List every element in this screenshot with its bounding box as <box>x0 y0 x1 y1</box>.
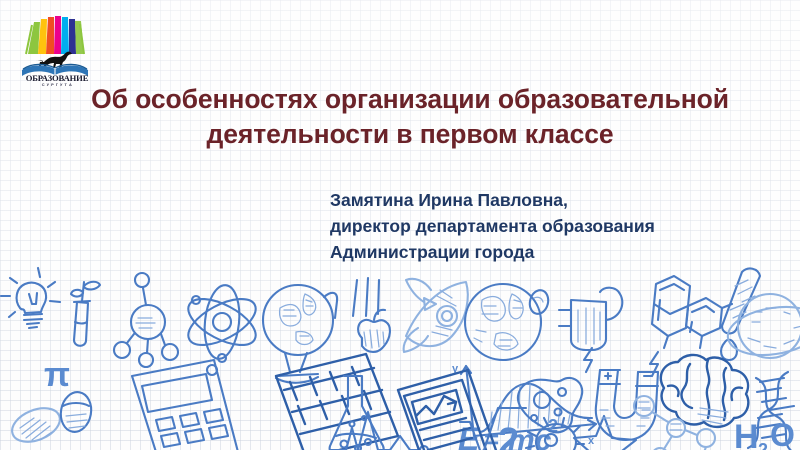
subtitle-line-1: Замятина Ирина Павловна, <box>330 188 770 214</box>
brain-icon <box>661 355 749 427</box>
h2o-subscript: 2 <box>758 440 768 450</box>
plug-icon <box>559 288 622 350</box>
calculator-icon <box>132 360 238 450</box>
saturn-icon <box>728 294 800 358</box>
h2o-o: O <box>770 417 795 450</box>
pi-symbol: π <box>44 356 70 394</box>
obrazovanie-surguta-logo: ОБРАЗОВАНИЕ С У Р Г У Т А <box>14 8 100 86</box>
test-tube-sprout-icon <box>71 282 100 346</box>
falling-apple-icon <box>353 278 390 352</box>
subtitle-line-3: Администрации города <box>330 240 770 266</box>
atom-icon <box>181 283 262 362</box>
slide-title-line-1: Об особенностях организации образователь… <box>50 82 770 117</box>
petri-dish-icon <box>58 390 94 435</box>
globe-stand-icon <box>263 285 337 383</box>
slide-title: Об особенностях организации образователь… <box>50 82 770 152</box>
h2o-formula: H 2 O <box>734 417 795 450</box>
subtitle-line-2: директор департамента образования <box>330 214 770 240</box>
earth-icon <box>465 284 541 360</box>
title-slide: ОБРАЗОВАНИЕ С У Р Г У Т А Об особенностя… <box>0 0 800 450</box>
logo-book-spines <box>26 16 84 54</box>
lightbulb-icon <box>1 268 60 328</box>
slide-title-line-2: деятельности в первом классе <box>50 117 770 152</box>
h2o-h: H <box>734 418 759 450</box>
document-chart-icon <box>398 370 498 450</box>
slide-subtitle: Замятина Ирина Павловна, директор департ… <box>330 188 770 266</box>
rocket-icon <box>404 279 468 352</box>
sqrt2-radicand: 2 <box>498 421 519 450</box>
benzene-rings-icon <box>652 276 732 348</box>
molecule-icon <box>114 273 178 367</box>
paramecium-icon <box>7 402 65 449</box>
science-doodle-band: π <box>0 260 800 450</box>
flask-icon <box>330 376 384 450</box>
magnet-icon <box>584 348 658 440</box>
pi-label: π <box>44 356 70 394</box>
